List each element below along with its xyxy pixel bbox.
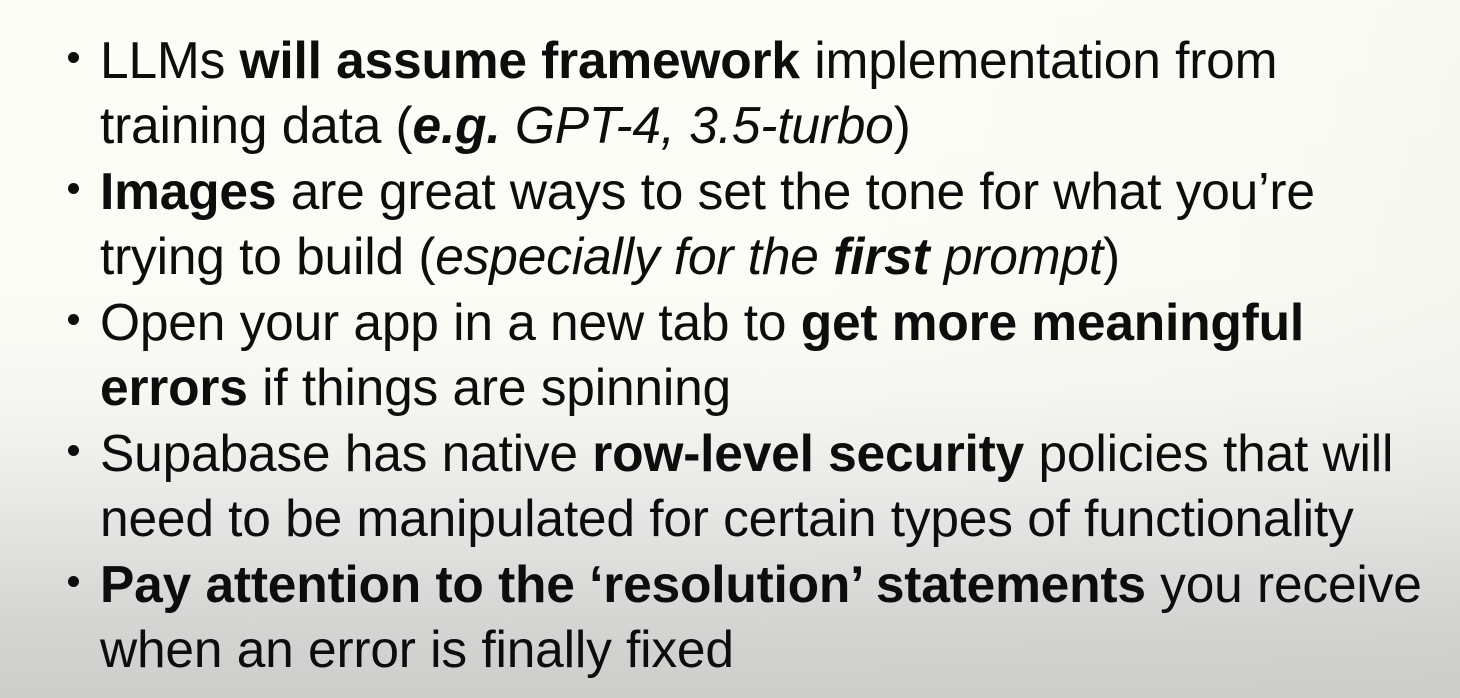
text-run: will assume framework — [240, 31, 800, 89]
list-item: Images are great ways to set the tone fo… — [0, 159, 1460, 289]
text-run: row-level security — [592, 424, 1024, 482]
list-item-text: Images are great ways to set the tone fo… — [100, 159, 1442, 289]
list-item-text: LLMs will assume framework implementatio… — [100, 28, 1442, 158]
text-run: e.g. — [413, 96, 501, 154]
bullet-point-icon — [68, 445, 79, 456]
text-run: ) — [894, 96, 911, 154]
text-run: if things are spinning — [248, 358, 731, 416]
list-item-text: Pay attention to the ‘resolution’ statem… — [100, 552, 1442, 682]
text-run: especially for the — [435, 227, 833, 285]
text-run: prompt — [929, 227, 1103, 285]
list-item: Pay attention to the ‘resolution’ statem… — [0, 552, 1460, 682]
list-item: Supabase has native row-level security p… — [0, 421, 1460, 551]
bullet-list: LLMs will assume framework implementatio… — [0, 28, 1460, 683]
bullet-point-icon — [68, 576, 79, 587]
list-item-text: Open your app in a new tab to get more m… — [100, 290, 1442, 420]
bullet-point-icon — [68, 314, 79, 325]
text-run: LLMs — [100, 31, 240, 89]
list-item-text: Supabase has native row-level security p… — [100, 421, 1442, 551]
list-item: LLMs will assume framework implementatio… — [0, 28, 1460, 158]
text-run: Supabase has native — [100, 424, 592, 482]
text-run: GPT-4, 3.5-turbo — [500, 96, 893, 154]
text-run: Open your app in a new tab to — [100, 293, 801, 351]
bullet-point-icon — [68, 183, 79, 194]
text-run: Pay attention to the ‘resolution’ statem… — [100, 555, 1146, 613]
slide-canvas: LLMs will assume framework implementatio… — [0, 0, 1460, 698]
bullet-point-icon — [68, 52, 79, 63]
text-run: Images — [100, 162, 276, 220]
list-item: Open your app in a new tab to get more m… — [0, 290, 1460, 420]
text-run: ) — [1103, 227, 1120, 285]
text-run: first — [833, 227, 929, 285]
